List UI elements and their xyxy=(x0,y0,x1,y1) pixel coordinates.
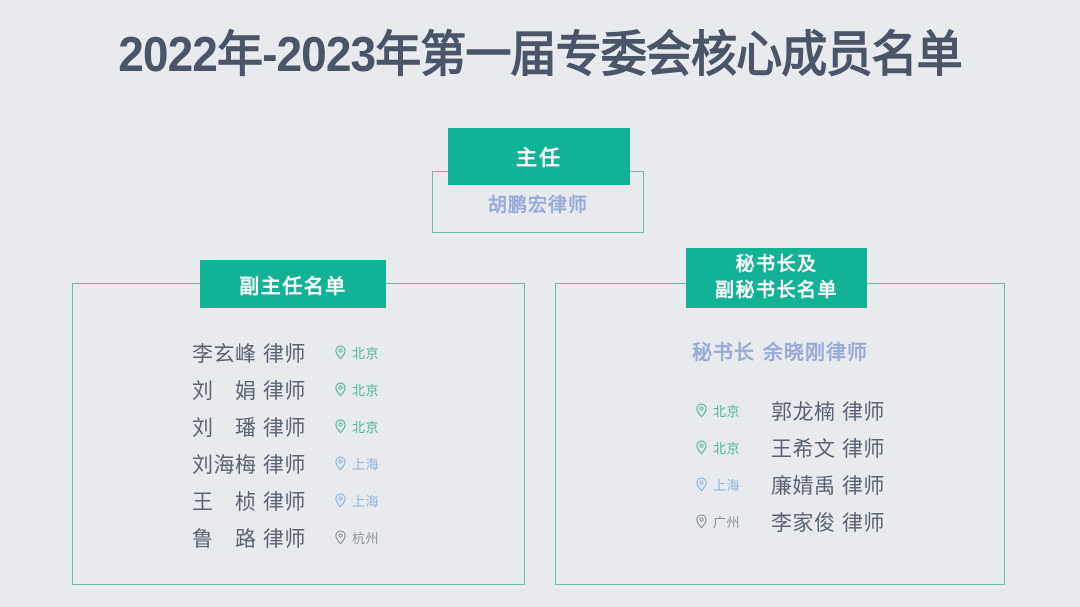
member-location: 北京 xyxy=(334,343,379,362)
director-name: 胡鹏宏律师 xyxy=(432,190,644,217)
member-location: 北京 xyxy=(695,438,753,457)
member-location-label: 上海 xyxy=(713,475,740,494)
secretary-panel-header-line2: 副秘书长名单 xyxy=(715,278,838,304)
location-pin-icon xyxy=(695,477,708,492)
member-name: 廉婧禹 律师 xyxy=(771,470,885,500)
secretary-general-role-label: 秘书长 xyxy=(692,342,755,364)
member-location: 杭州 xyxy=(334,528,379,547)
deputy-member-row: 刘 璠 律师北京 xyxy=(72,408,525,445)
member-location-label: 广州 xyxy=(713,512,740,531)
member-location-label: 上海 xyxy=(352,454,379,473)
secretary-member-row: 北京郭龙楠 律师 xyxy=(555,392,1005,429)
member-location-label: 北京 xyxy=(713,438,740,457)
location-pin-icon xyxy=(334,419,347,434)
member-name: 李玄峰 律师 xyxy=(192,338,316,368)
member-name: 刘海梅 律师 xyxy=(192,449,316,479)
deputy-panel-header: 副主任名单 xyxy=(200,260,386,308)
director-header-label: 主任 xyxy=(516,142,562,172)
member-location-label: 北京 xyxy=(352,417,379,436)
member-name: 刘 娟 律师 xyxy=(192,375,316,405)
secretary-member-row: 北京王希文 律师 xyxy=(555,429,1005,466)
member-location: 上海 xyxy=(334,454,379,473)
member-location: 广州 xyxy=(695,512,753,531)
location-pin-icon xyxy=(334,456,347,471)
deputy-member-row: 刘 娟 律师北京 xyxy=(72,371,525,408)
location-pin-icon xyxy=(695,514,708,529)
member-location-label: 杭州 xyxy=(352,528,379,547)
location-pin-icon xyxy=(334,493,347,508)
location-pin-icon xyxy=(334,382,347,397)
deputy-member-row: 王 桢 律师上海 xyxy=(72,482,525,519)
deputy-member-row: 李玄峰 律师北京 xyxy=(72,334,525,371)
secretary-general-name: 余晓刚律师 xyxy=(763,342,868,364)
member-location-label: 北京 xyxy=(352,380,379,399)
member-location-label: 北京 xyxy=(713,401,740,420)
secretary-member-row: 广州李家俊 律师 xyxy=(555,503,1005,540)
secretary-member-list: 北京郭龙楠 律师北京王希文 律师上海廉婧禹 律师广州李家俊 律师 xyxy=(555,392,1005,540)
secretary-panel-header-line1: 秘书长及 xyxy=(735,252,817,278)
location-pin-icon xyxy=(695,440,708,455)
member-location: 北京 xyxy=(695,401,753,420)
deputy-member-list: 李玄峰 律师北京刘 娟 律师北京刘 璠 律师北京刘海梅 律师上海王 桢 律师上海… xyxy=(72,334,525,556)
member-location-label: 北京 xyxy=(352,343,379,362)
deputy-panel-header-label: 副主任名单 xyxy=(239,270,347,299)
slide-root: 2022年-2023年第一届专委会核心成员名单 主任 胡鹏宏律师 副主任名单 李… xyxy=(0,0,1080,607)
location-pin-icon xyxy=(695,403,708,418)
member-location: 北京 xyxy=(334,417,379,436)
secretary-member-row: 上海廉婧禹 律师 xyxy=(555,466,1005,503)
location-pin-icon xyxy=(334,345,347,360)
page-title: 2022年-2023年第一届专委会核心成员名单 xyxy=(32,24,1047,86)
member-location-label: 上海 xyxy=(352,491,379,510)
member-name: 王 桢 律师 xyxy=(192,486,316,516)
deputy-member-row: 鲁 路 律师杭州 xyxy=(72,519,525,556)
member-location: 上海 xyxy=(334,491,379,510)
member-location: 上海 xyxy=(695,475,753,494)
member-location: 北京 xyxy=(334,380,379,399)
member-name: 李家俊 律师 xyxy=(771,507,885,537)
member-name: 鲁 路 律师 xyxy=(192,523,316,553)
member-name: 王希文 律师 xyxy=(771,433,885,463)
secretary-panel-header: 秘书长及 副秘书长名单 xyxy=(686,248,867,308)
deputy-member-row: 刘海梅 律师上海 xyxy=(72,445,525,482)
director-header-badge: 主任 xyxy=(448,128,630,185)
secretary-general-row: 秘书长余晓刚律师 xyxy=(555,336,1005,365)
member-name: 刘 璠 律师 xyxy=(192,412,316,442)
member-name: 郭龙楠 律师 xyxy=(771,396,885,426)
location-pin-icon xyxy=(334,530,347,545)
